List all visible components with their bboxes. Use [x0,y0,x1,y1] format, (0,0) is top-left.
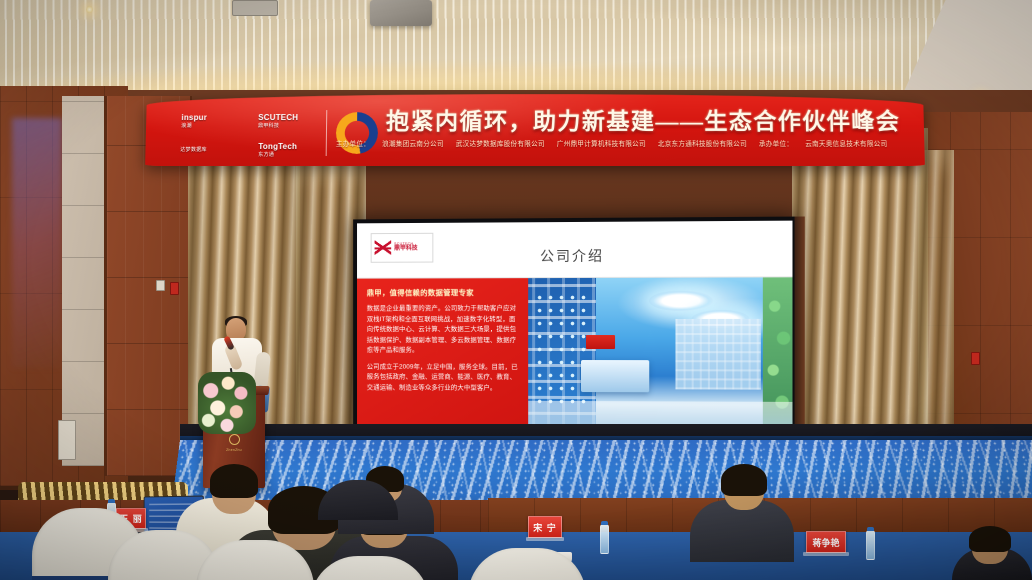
slide-panel-paragraph: 数据是企业最重要的资产。公司致力于帮助客户应对双栈IT架构和全面互联网挑战，加速… [367,304,519,356]
name-card-text: 蒋争艳 [812,536,839,549]
podium-emblem-icon [229,434,240,445]
water-bottle-cap [108,499,115,503]
name-card: 宋 宁 [528,516,562,538]
name-card: 蒋争艳 [806,531,846,553]
wall-panel-box[interactable] [58,420,76,460]
slide-showroom-photo [529,277,793,437]
sponsor-logo-tongtech-cn: 东方通 [258,150,297,157]
conference-photo-scene: SCUTECH 鼎甲科技 公司介绍 鼎甲，值得信赖的数据管理专家 数据是企业最重… [0,0,1032,580]
left-wall-beige-panels [62,96,108,466]
banner-organizers: 主办单位：浪潮集团云南分公司武汉达梦数据库股份有限公司广州鼎甲计算机科技有限公司… [336,138,919,148]
name-card-stand [803,552,849,556]
sponsor-logo-scutech-cn: 鼎甲科技 [258,122,298,129]
led-video-wall: SCUTECH 鼎甲科技 公司介绍 鼎甲，值得信赖的数据管理专家 数据是企业最重… [353,217,796,442]
photo-reception-desk [581,360,649,392]
sponsor-logo-inspur-en: inspur [181,113,207,122]
podium-emblem-text: ZhenZhu [217,448,251,453]
banner-organizer-label: 主办单位： [336,141,370,148]
sponsor-logo-inspur: inspur 浪潮 [181,113,207,129]
water-bottle-cap [867,527,874,531]
banner-organizer-0: 浪潮集团云南分公司 [382,141,444,148]
banner-sponsor-logos: inspur 浪潮 SCUTECH 鼎甲科技 达梦数据库 TongTech 东方… [151,106,320,164]
name-card-text: 宋 宁 [533,521,557,534]
banner-organizer-2: 广州鼎甲计算机科技有限公司 [557,141,646,148]
sponsor-logo-tongtech: TongTech 东方通 [258,141,297,157]
attendee-hair [210,464,258,498]
slide-title: 公司介绍 [357,245,792,267]
photo-wall-logo [586,335,615,349]
sponsor-logo-inspur-cn: 浪潮 [181,122,207,129]
left-wall-light-wash [12,118,62,368]
banner-organizer-1: 武汉达梦数据库股份有限公司 [456,141,545,148]
slide-panel-heading: 鼎甲，值得信赖的数据管理专家 [367,287,519,298]
podium-flower-arrangement [198,372,256,434]
podium-emblem: ZhenZhu [217,434,251,453]
sponsor-logo-scutech-en: SCUTECH [258,113,298,122]
slide-panel-paragraph: 公司成立于2009年，立足中国，服务全球。目前，已服务包括政府、金融、运营商、能… [367,362,519,394]
event-banner: inspur 浪潮 SCUTECH 鼎甲科技 达梦数据库 TongTech 东方… [145,94,925,166]
slide-header: SCUTECH 鼎甲科技 公司介绍 [357,221,792,279]
attendee-hair [969,526,1011,552]
ceiling-vent [232,0,278,16]
presentation-slide: SCUTECH 鼎甲科技 公司介绍 鼎甲，值得信赖的数据管理专家 数据是企业最重… [357,221,792,438]
sponsor-logo-tongtech-en: TongTech [258,141,297,150]
water-bottle [866,530,875,560]
sponsor-logo-scutech: SCUTECH 鼎甲科技 [258,113,298,129]
sponsor-logo-dameng: 达梦数据库 [180,146,207,153]
wall-switch-plate[interactable] [156,280,165,291]
photo-ring-light-icon [649,290,712,311]
water-bottle [600,524,609,554]
water-bottle-cap [601,521,608,525]
attendee-hair [721,464,767,496]
banner-host: 云南天奥信息技术有限公司 [805,141,887,148]
fire-alarm-icon [170,282,179,295]
banner-host-label: 承办单位： [759,141,793,148]
name-card-stand [526,537,564,541]
banner-title: 抱紧内循环，助力新基建——生态合作伙伴峰会 [386,102,916,136]
slide-body: 鼎甲，值得信赖的数据管理专家 数据是企业最重要的资产。公司致力于帮助客户应对双栈… [357,277,792,437]
photo-back-wall [675,319,760,389]
ceiling-speaker-icon [370,0,432,26]
led-wall-bezel [795,216,805,441]
fire-alarm-icon [971,352,980,365]
sponsor-logo-dameng-cn: 达梦数据库 [180,146,207,153]
ceiling-downlight-icon [86,6,93,13]
slide-text-panel: 鼎甲，值得信赖的数据管理专家 数据是企业最重要的资产。公司致力于帮助客户应对双栈… [357,278,529,436]
banner-organizer-3: 北京东方通科技股份有限公司 [658,141,747,148]
